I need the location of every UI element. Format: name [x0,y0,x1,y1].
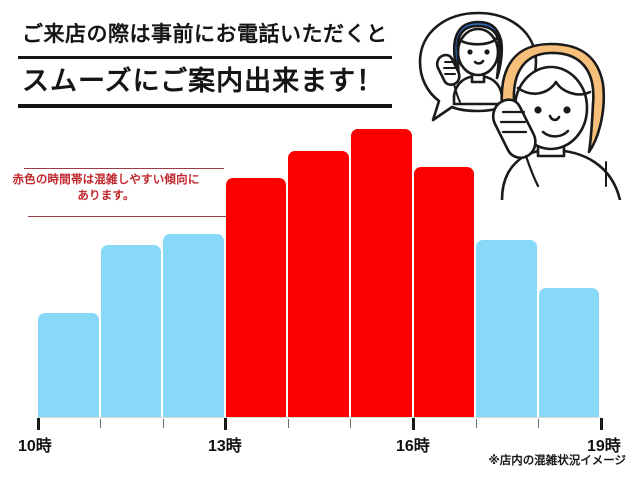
axis-tick-major-10時 [37,418,40,430]
bar-17時 [476,240,537,417]
axis-tick-minor [100,419,101,428]
poster-canvas: ご来店の際は事前にお電話いただくと スムーズにご案内出来ます！ 赤色の時間帯は混… [0,0,640,480]
bar-12時 [163,234,224,417]
axis-tick-minor [163,419,164,428]
bar-14時 [288,151,349,417]
bar-10時 [38,313,99,417]
axis-tick-minor [350,419,351,428]
bar-16時 [414,167,475,417]
axis-label-10時: 10時 [18,432,52,456]
axis-tick-minor [476,419,477,428]
axis-tick-major-16時 [412,418,415,430]
axis-label-16時: 16時 [396,432,430,456]
x-axis-line [38,417,601,418]
phone-illustration [398,0,640,200]
axis-tick-major-13時 [224,418,227,430]
bar-18時 [539,288,600,417]
axis-tick-minor [538,419,539,428]
customer-figure [493,44,620,200]
axis-label-13時: 13時 [208,432,242,456]
bar-13時 [226,178,287,417]
bar-11時 [101,245,162,417]
axis-tick-major-19時 [600,418,603,430]
axis-tick-minor [288,419,289,428]
chart-footnote: ※店内の混雑状況イメージ [489,452,626,468]
